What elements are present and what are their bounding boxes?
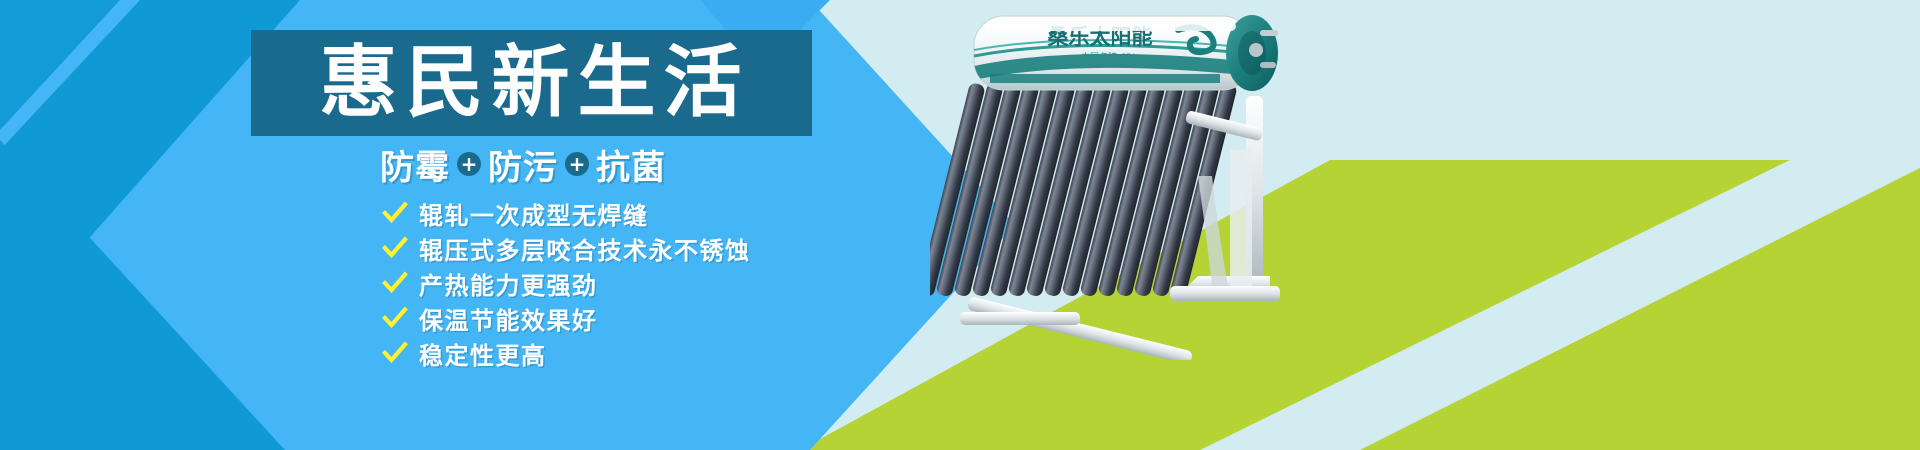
subtitle-part-3: 抗菌 bbox=[596, 140, 666, 189]
check-icon bbox=[382, 340, 408, 366]
list-item: 保温节能效果好 bbox=[382, 301, 812, 335]
list-item-label: 稳定性更高 bbox=[419, 336, 547, 371]
check-icon bbox=[382, 235, 408, 261]
title-block: 惠民新生活 bbox=[251, 30, 812, 136]
subtitle-part-1: 防霉 bbox=[380, 140, 450, 189]
check-icon bbox=[382, 200, 408, 226]
product-image: 桑乐太阳能 中国名牌 CRI bbox=[930, 0, 1390, 360]
list-item: 辊压式多层咬合技术永不锈蚀 bbox=[382, 231, 812, 265]
subtitle-part-2: 防污 bbox=[488, 140, 558, 189]
feature-list: 辊轧一次成型无焊缝 辊压式多层咬合技术永不锈蚀 产热能力更强劲 保温节能效果好 bbox=[382, 196, 812, 371]
plus-icon: + bbox=[565, 152, 589, 176]
list-item-label: 产热能力更强劲 bbox=[419, 266, 598, 301]
list-item: 产热能力更强劲 bbox=[382, 266, 812, 300]
check-icon bbox=[382, 305, 408, 331]
list-item-label: 保温节能效果好 bbox=[419, 301, 598, 336]
solar-water-heater-illustration: 桑乐太阳能 中国名牌 CRI bbox=[930, 0, 1390, 360]
list-item-label: 辊轧一次成型无焊缝 bbox=[419, 196, 649, 231]
tank-body: 桑乐太阳能 中国名牌 CRI bbox=[974, 15, 1278, 91]
plus-icon: + bbox=[457, 152, 481, 176]
list-item: 稳定性更高 bbox=[382, 336, 812, 370]
subtitle-row: 防霉 + 防污 + 抗菌 bbox=[380, 142, 810, 186]
page-title: 惠民新生活 bbox=[313, 44, 749, 122]
tank-sub-label: 中国名牌 CRI bbox=[1081, 51, 1135, 63]
promo-banner: 惠民新生活 防霉 + 防污 + 抗菌 辊轧一次成型无焊缝 辊压式多层咬合技术永不… bbox=[0, 0, 1920, 450]
list-item: 辊轧一次成型无焊缝 bbox=[382, 196, 812, 230]
list-item-label: 辊压式多层咬合技术永不锈蚀 bbox=[419, 231, 751, 266]
check-icon bbox=[382, 270, 408, 296]
